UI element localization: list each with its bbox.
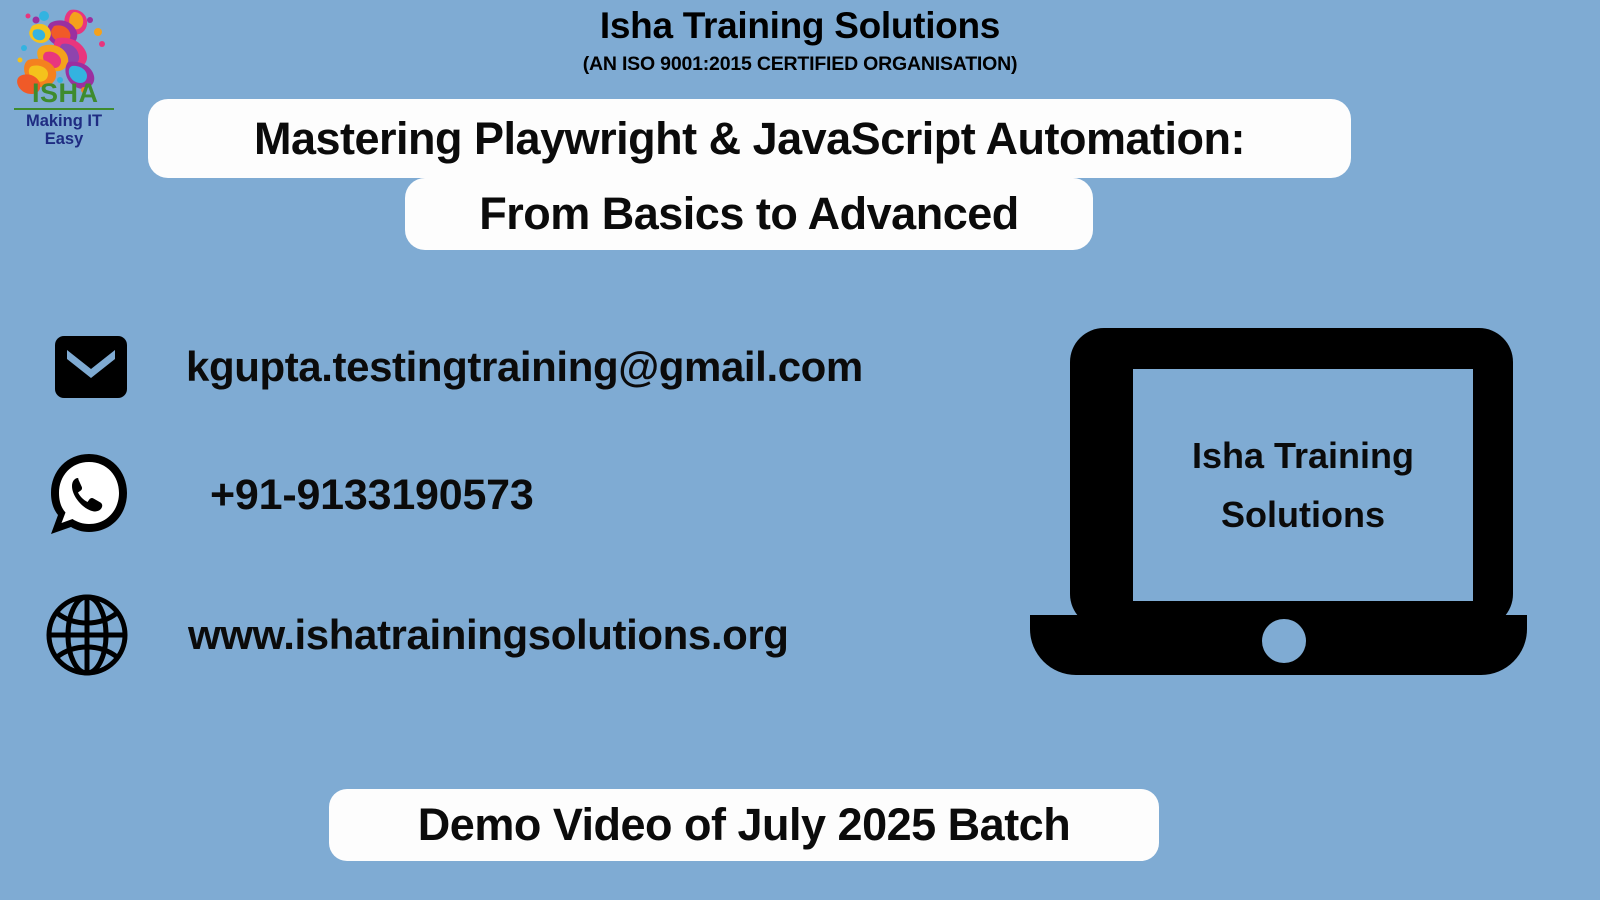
course-title-line2: From Basics to Advanced — [479, 188, 1019, 240]
demo-video-label: Demo Video of July 2025 Batch — [418, 799, 1070, 851]
laptop-screen-text: Isha Training Solutions — [1133, 369, 1473, 601]
company-name: Isha Training Solutions — [300, 6, 1300, 47]
website-url: www.ishatrainingsolutions.org — [188, 611, 789, 659]
logo-divider — [14, 108, 114, 110]
laptop-screen-line1: Isha Training — [1192, 426, 1414, 485]
course-title-line1-plate: Mastering Playwright & JavaScript Automa… — [148, 99, 1351, 178]
logo-brand-text: ISHA — [32, 80, 118, 107]
laptop-screen-line2: Solutions — [1221, 485, 1385, 544]
certification-text: (AN ISO 9001:2015 CERTIFIED ORGANISATION… — [300, 54, 1300, 75]
course-title-line1: Mastering Playwright & JavaScript Automa… — [254, 113, 1245, 165]
contact-row-phone[interactable]: +91-9133190573 — [44, 452, 534, 538]
whatsapp-icon — [44, 452, 130, 538]
promo-banner: ISHA Making IT Easy Isha Training Soluti… — [0, 0, 1600, 900]
contact-row-email[interactable]: kgupta.testingtraining@gmail.com — [48, 324, 863, 410]
logo-tagline: Making IT Easy — [9, 112, 119, 148]
laptop-trackpad — [1262, 619, 1306, 663]
laptop-icon: Isha Training Solutions — [1030, 328, 1530, 680]
email-icon — [48, 324, 134, 410]
demo-video-banner[interactable]: Demo Video of July 2025 Batch — [329, 789, 1159, 861]
company-logo: ISHA Making IT Easy — [6, 4, 118, 134]
phone-number: +91-9133190573 — [210, 471, 534, 520]
globe-icon — [44, 592, 130, 678]
course-title-line2-plate: From Basics to Advanced — [405, 178, 1093, 250]
email-address: kgupta.testingtraining@gmail.com — [186, 343, 863, 391]
contact-row-website[interactable]: www.ishatrainingsolutions.org — [44, 592, 789, 678]
